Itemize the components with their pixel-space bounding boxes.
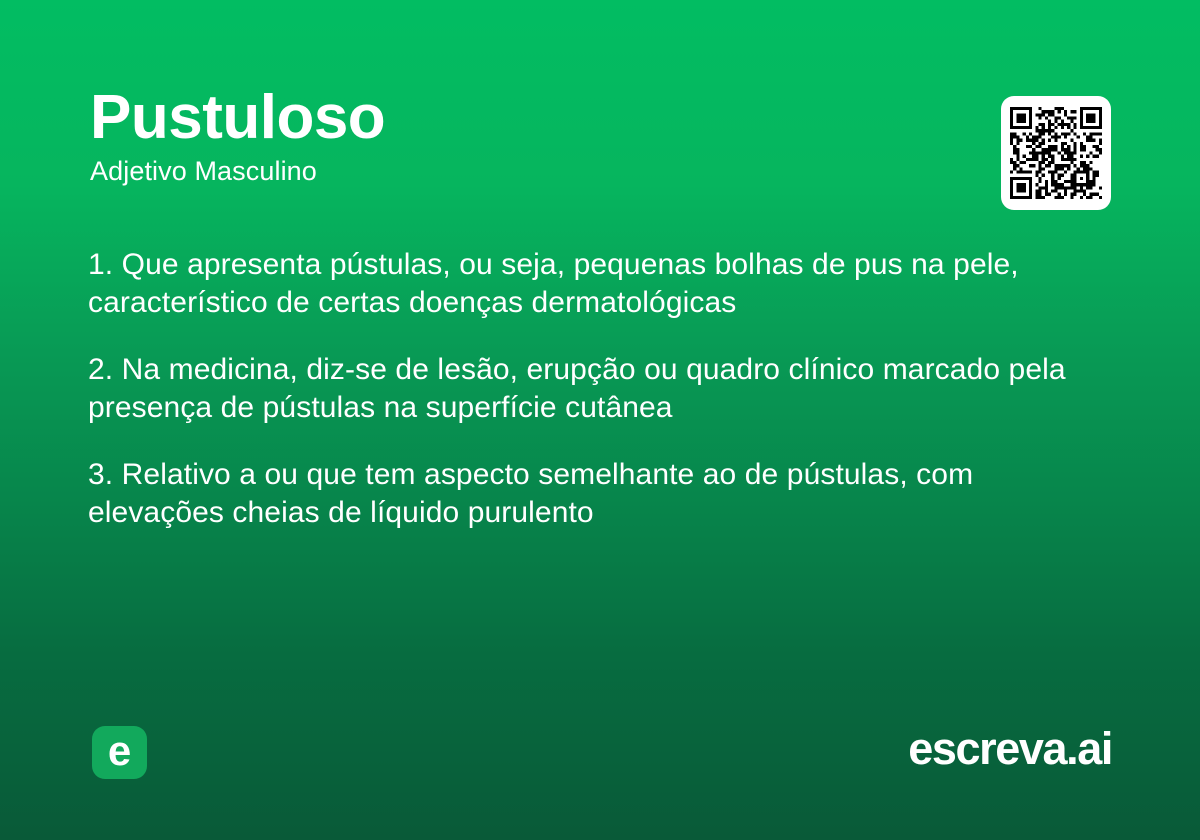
- qr-code-icon: [1010, 105, 1102, 201]
- definition-list: 1. Que apresenta pústulas, ou seja, pequ…: [88, 246, 1088, 532]
- qr-code-card[interactable]: [1001, 96, 1111, 210]
- brand-logo-letter: e: [108, 730, 131, 772]
- definition-item: 3. Relativo a ou que tem aspecto semelha…: [88, 456, 1088, 532]
- definition-item: 1. Que apresenta pústulas, ou seja, pequ…: [88, 246, 1088, 322]
- dictionary-card: Pustuloso Adjetivo Masculino 1. Que apre…: [0, 0, 1200, 840]
- page-title: Pustuloso: [90, 86, 970, 149]
- word-class-label: Adjetivo Masculino: [90, 157, 970, 187]
- card-header: Pustuloso Adjetivo Masculino: [90, 86, 970, 187]
- definition-item: 2. Na medicina, diz-se de lesão, erupção…: [88, 351, 1088, 427]
- brand-logo-badge[interactable]: e: [92, 726, 147, 779]
- brand-wordmark: escreva.ai: [908, 722, 1112, 776]
